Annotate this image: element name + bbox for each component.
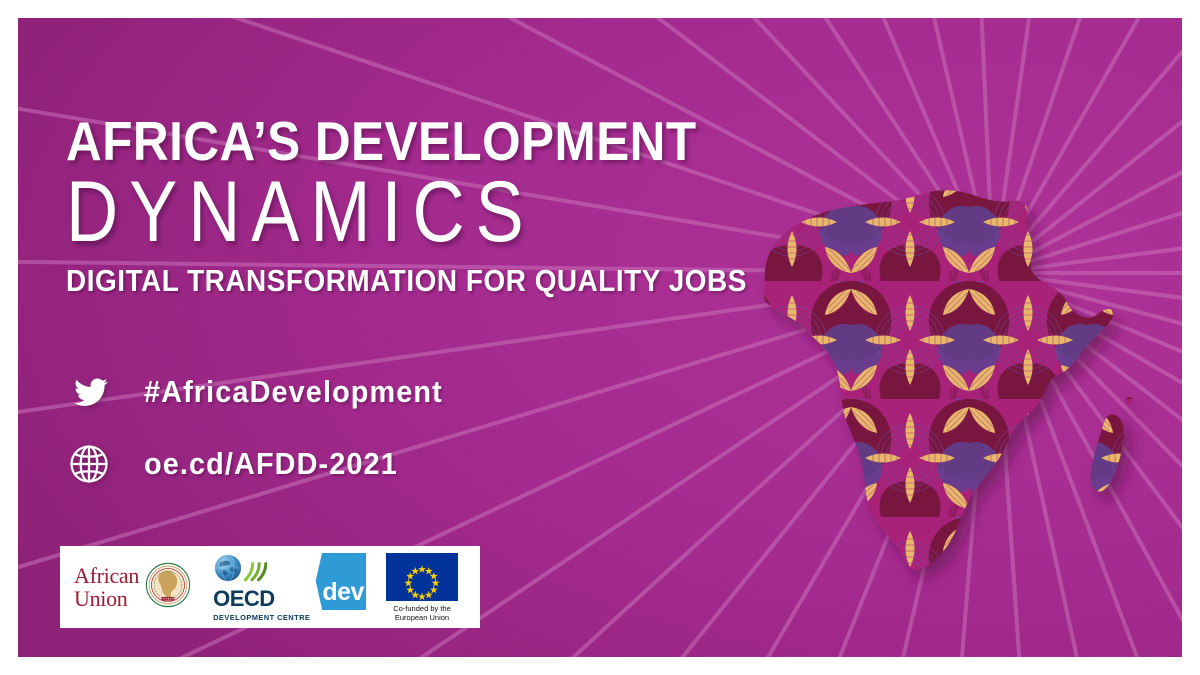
- african-union-line2: Union: [74, 587, 139, 610]
- madagascar-island-shape: [1063, 383, 1173, 513]
- oecd-development-centre-logo: OECD DEVELOPMENT CENTRE dev: [213, 553, 366, 622]
- oecd-dev-badge-label: dev: [322, 578, 364, 607]
- africa-map-graphic: [733, 163, 1163, 603]
- page-title-line2: DYNAMICS: [66, 166, 646, 258]
- page-subtitle: DIGITAL TRANSFORMATION FOR QUALITY JOBS: [66, 264, 687, 298]
- twitter-handle-label: #AfricaDevelopment: [144, 374, 443, 410]
- african-union-line1: African: [74, 564, 139, 587]
- globe-icon: [66, 438, 122, 490]
- european-union-logo: Co-funded by the European Union: [386, 553, 458, 622]
- twitter-row[interactable]: #AfricaDevelopment: [66, 363, 465, 421]
- website-row[interactable]: oe.cd/AFDD-2021: [66, 435, 465, 493]
- oecd-wordmark: OECD: [213, 586, 275, 612]
- oecd-globe-icon: [213, 553, 243, 588]
- oecd-subtitle: DEVELOPMENT CENTRE: [213, 613, 310, 622]
- oecd-chevron-icon: [243, 561, 267, 588]
- oecd-mark-row: [213, 553, 267, 588]
- social-links: #AfricaDevelopment oe: [66, 363, 465, 493]
- page-title-line1: AFRICA’S DEVELOPMENT: [66, 113, 687, 170]
- poster-frame: AFRICA’S DEVELOPMENT DYNAMICS DIGITAL TR…: [0, 0, 1200, 675]
- partner-logo-bar: African Union: [60, 546, 480, 628]
- african-union-wordmark: African Union: [74, 564, 139, 610]
- poster-canvas: AFRICA’S DEVELOPMENT DYNAMICS DIGITAL TR…: [18, 18, 1182, 657]
- eu-funding-caption: Co-funded by the European Union: [393, 604, 451, 622]
- website-url-label: oe.cd/AFDD-2021: [144, 446, 398, 482]
- twitter-bird-icon: [66, 366, 122, 418]
- eu-flag-icon: [386, 553, 458, 601]
- african-union-emblem-icon: [145, 562, 191, 613]
- african-union-logo: African Union: [74, 562, 191, 613]
- africa-continent-shape: [713, 143, 1182, 623]
- oecd-dev-badge: dev: [312, 553, 366, 610]
- title-block: AFRICA’S DEVELOPMENT DYNAMICS DIGITAL TR…: [66, 113, 756, 298]
- oecd-left-group: OECD DEVELOPMENT CENTRE: [213, 553, 310, 622]
